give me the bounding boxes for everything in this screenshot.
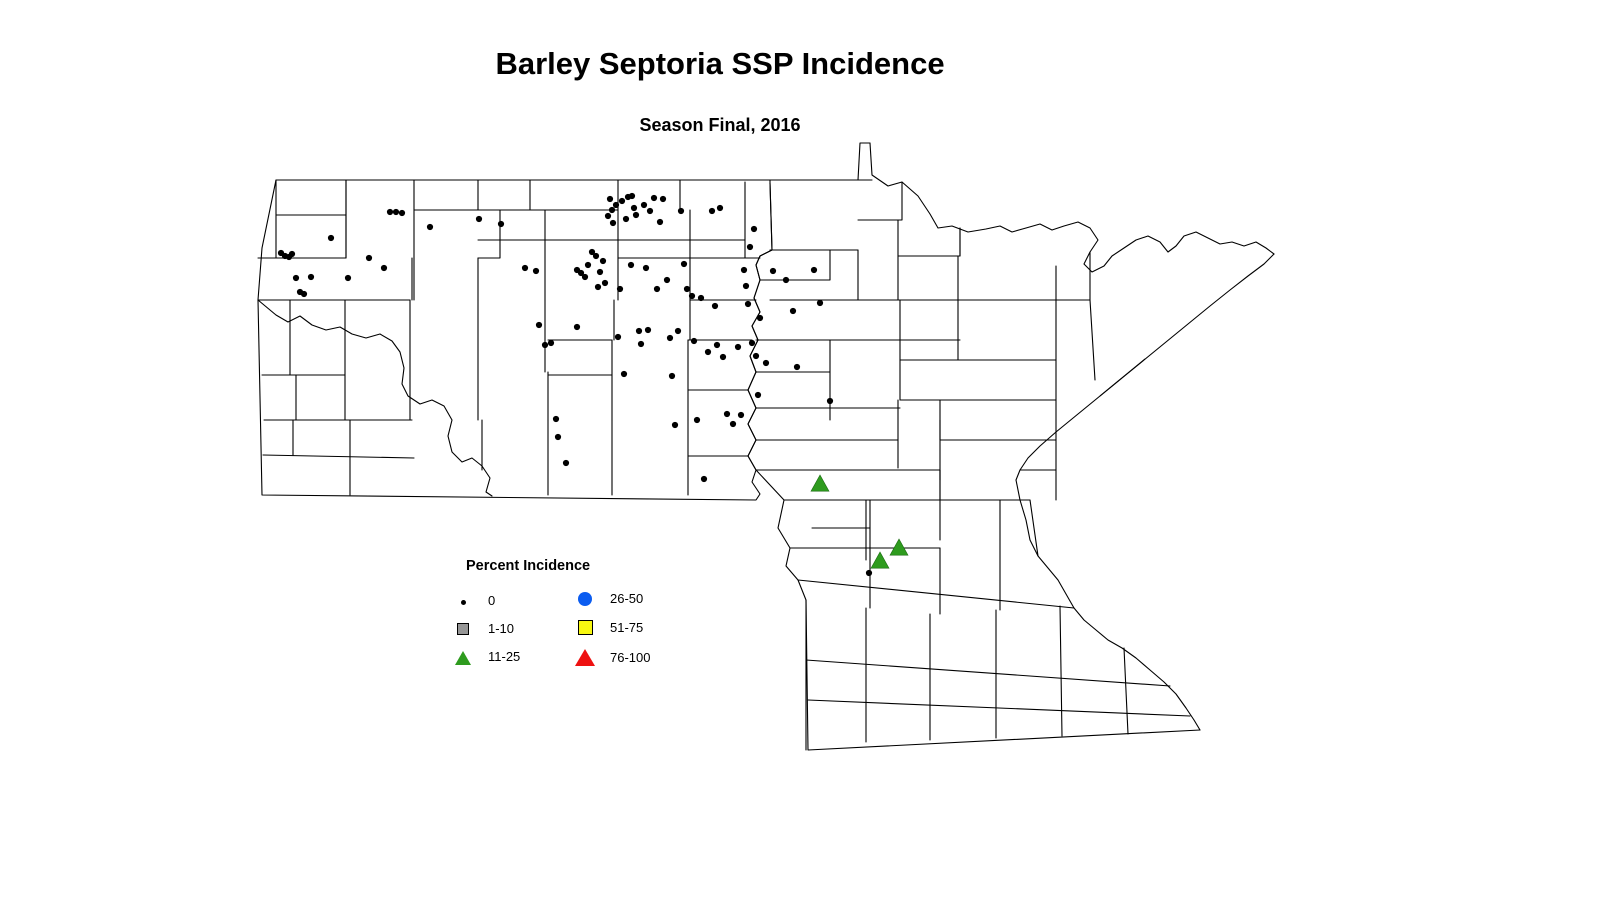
legend-label-26-50: 26-50 — [610, 591, 643, 606]
map-data-point — [633, 212, 639, 218]
county-boundaries — [258, 143, 1274, 750]
map-data-point — [548, 340, 554, 346]
map-data-point — [714, 342, 720, 348]
map-data-point — [615, 334, 621, 340]
map-data-point — [743, 283, 749, 289]
map-data-point — [533, 268, 539, 274]
map-data-point — [621, 371, 627, 377]
map-data-point — [667, 335, 673, 341]
map-data-point — [827, 398, 833, 404]
map-data-point — [631, 205, 637, 211]
map-data-point — [794, 364, 800, 370]
map-data-point — [301, 291, 307, 297]
map-data-point — [654, 286, 660, 292]
map-data-point — [289, 251, 295, 257]
map-data-point — [684, 286, 690, 292]
map-data-point — [542, 342, 548, 348]
map-data-point — [770, 268, 776, 274]
map-data-point — [790, 308, 796, 314]
map-data-point — [381, 265, 387, 271]
map-data-point — [741, 267, 747, 273]
map-data-point — [735, 344, 741, 350]
map-data-point — [600, 258, 606, 264]
map-data-point — [712, 303, 718, 309]
map-data-point — [553, 416, 559, 422]
legend-label-11-25: 11-25 — [488, 649, 520, 664]
map-data-point — [293, 275, 299, 281]
map-data-point — [705, 349, 711, 355]
map-data-point — [597, 269, 603, 275]
map-data-point — [476, 216, 482, 222]
map-data-point — [681, 261, 687, 267]
map-data-point — [536, 322, 542, 328]
map-data-point — [645, 327, 651, 333]
gray-square-icon — [452, 620, 476, 640]
map-data-point — [691, 338, 697, 344]
map-data-point — [709, 208, 715, 214]
map-data-point — [694, 417, 700, 423]
map-data-point — [871, 552, 889, 568]
map-data-point — [811, 475, 829, 491]
map-page: Barley Septoria SSP Incidence Season Fin… — [0, 0, 1612, 900]
map-data-point — [593, 253, 599, 259]
map-data-point — [747, 244, 753, 250]
map-data-point — [664, 277, 670, 283]
map-data-point — [701, 476, 707, 482]
map-data-point — [328, 235, 334, 241]
green-triangle-icon — [452, 648, 476, 668]
map-data-point — [890, 539, 908, 555]
map-data-point — [657, 219, 663, 225]
map-data-point — [763, 360, 769, 366]
map-data-point — [393, 209, 399, 215]
map-data-point — [623, 216, 629, 222]
legend-label-0: 0 — [488, 593, 495, 608]
map-data-point — [427, 224, 433, 230]
map-data-point — [610, 220, 616, 226]
yellow-square-icon — [574, 619, 598, 639]
map-data-point — [811, 267, 817, 273]
map-data-point — [724, 411, 730, 417]
map-data-point — [617, 286, 623, 292]
map-data-point — [563, 460, 569, 466]
map-data-point — [678, 208, 684, 214]
map-data-point — [629, 193, 635, 199]
map-data-point — [757, 315, 763, 321]
map-data-point — [753, 353, 759, 359]
map-data-point — [387, 209, 393, 215]
map-data-point — [698, 295, 704, 301]
map-data-point — [498, 221, 504, 227]
map-data-point — [643, 265, 649, 271]
map-data-point — [582, 274, 588, 280]
small-dot-icon — [452, 592, 476, 612]
map-data-point — [609, 207, 615, 213]
map-data-point — [720, 354, 726, 360]
red-triangle-icon — [574, 649, 598, 669]
map-data-point — [555, 434, 561, 440]
map-data-point — [628, 262, 634, 268]
map-data-point — [651, 195, 657, 201]
legend-title: Percent Incidence — [466, 558, 590, 574]
map-data-point — [522, 265, 528, 271]
map-data-point — [585, 262, 591, 268]
map-data-point — [574, 324, 580, 330]
map-data-point — [641, 202, 647, 208]
map-data-point — [660, 196, 666, 202]
map-data-point — [755, 392, 761, 398]
map-data-point — [605, 213, 611, 219]
map-data-point — [783, 277, 789, 283]
map-data-point — [730, 421, 736, 427]
map-data-point — [738, 412, 744, 418]
map-data-point — [689, 293, 695, 299]
legend-label-1-10: 1-10 — [488, 621, 514, 636]
legend-label-76-100: 76-100 — [610, 650, 650, 665]
map-data-point — [399, 210, 405, 216]
map-data-point — [638, 341, 644, 347]
map-data-point — [366, 255, 372, 261]
map-data-point — [345, 275, 351, 281]
map-data-point — [308, 274, 314, 280]
map-data-point — [647, 208, 653, 214]
map-data-point — [595, 284, 601, 290]
map-data-point — [607, 196, 613, 202]
map-data-point — [619, 198, 625, 204]
map-data-point — [636, 328, 642, 334]
map-data-point — [817, 300, 823, 306]
map-data-point — [749, 340, 755, 346]
map-data-point — [672, 422, 678, 428]
map-data-point — [745, 301, 751, 307]
blue-circle-icon — [574, 590, 598, 610]
map-data-point — [613, 202, 619, 208]
map-data-point — [669, 373, 675, 379]
map-data-point — [675, 328, 681, 334]
map-data-point — [866, 570, 872, 576]
map-data-point — [751, 226, 757, 232]
map-data-point — [602, 280, 608, 286]
map-canvas — [0, 0, 1612, 900]
legend: Percent Incidence 0 1-10 11-25 — [452, 552, 702, 682]
legend-label-51-75: 51-75 — [610, 620, 643, 635]
map-data-point — [717, 205, 723, 211]
